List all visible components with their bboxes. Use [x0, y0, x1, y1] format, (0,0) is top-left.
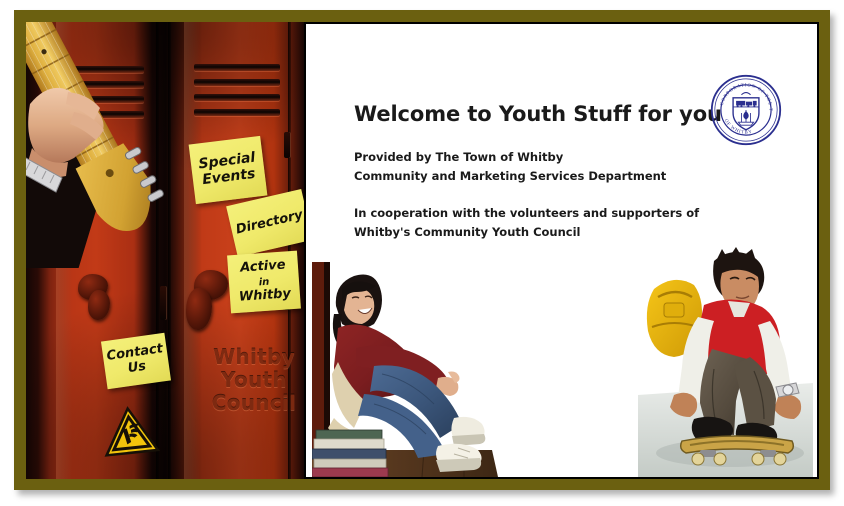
olive-border-frame: SpecialEvents Directory ActiveinWhitby C… [14, 10, 830, 490]
sticky-note-directory[interactable]: Directory [226, 189, 304, 257]
cooperation-line: Whitby's Community Youth Council [354, 223, 699, 242]
sticky-note-label: ActiveinWhitby [237, 258, 292, 305]
locker-latch [160, 286, 166, 320]
locker-hook [88, 290, 110, 320]
cooperation-line: In cooperation with the volunteers and s… [354, 204, 699, 223]
locker-latch [284, 132, 290, 158]
sticky-note-active-in-whitby[interactable]: ActiveinWhitby [227, 251, 301, 314]
guitar-hand-photo [26, 22, 172, 268]
seal-outer-text-bottom: OF WHITBY [723, 119, 753, 136]
hand-hazard-warning-sign [97, 401, 162, 461]
wordmark-line: Youth [194, 369, 304, 392]
main-content-panel: Welcome to Youth Stuff for you Provided … [306, 24, 817, 477]
provided-by-block: Provided by The Town of Whitby Community… [354, 148, 666, 186]
skateboarder-photo [638, 245, 813, 477]
wordmark-line: Whitby [194, 346, 304, 369]
locker-vents-right [194, 64, 280, 124]
locker-image-panel: SpecialEvents Directory ActiveinWhitby C… [26, 22, 304, 479]
svg-text:OF WHITBY: OF WHITBY [723, 119, 753, 136]
sticky-note-special-events[interactable]: SpecialEvents [189, 136, 268, 204]
sticky-note-label: SpecialEvents [198, 151, 258, 189]
page-title: Welcome to Youth Stuff for you [354, 102, 722, 126]
locker-wordmark: Whitby Youth Council [194, 346, 304, 415]
locker-hook [186, 288, 212, 330]
sticky-note-label: Directory [235, 208, 304, 238]
provided-by-line: Provided by The Town of Whitby [354, 148, 666, 167]
content-stage: SpecialEvents Directory ActiveinWhitby C… [26, 22, 819, 479]
sticky-note-label: ContactUs [106, 343, 166, 380]
town-of-whitby-seal-icon: CORPORATION OF THE TOWN OF WHITBY [708, 72, 784, 148]
provided-by-line: Community and Marketing Services Departm… [354, 167, 666, 186]
sticky-note-contact-us[interactable]: ContactUs [101, 333, 171, 389]
wordmark-line: Council [194, 392, 304, 415]
seated-girl-photo [312, 262, 502, 477]
cooperation-block: In cooperation with the volunteers and s… [354, 204, 699, 242]
